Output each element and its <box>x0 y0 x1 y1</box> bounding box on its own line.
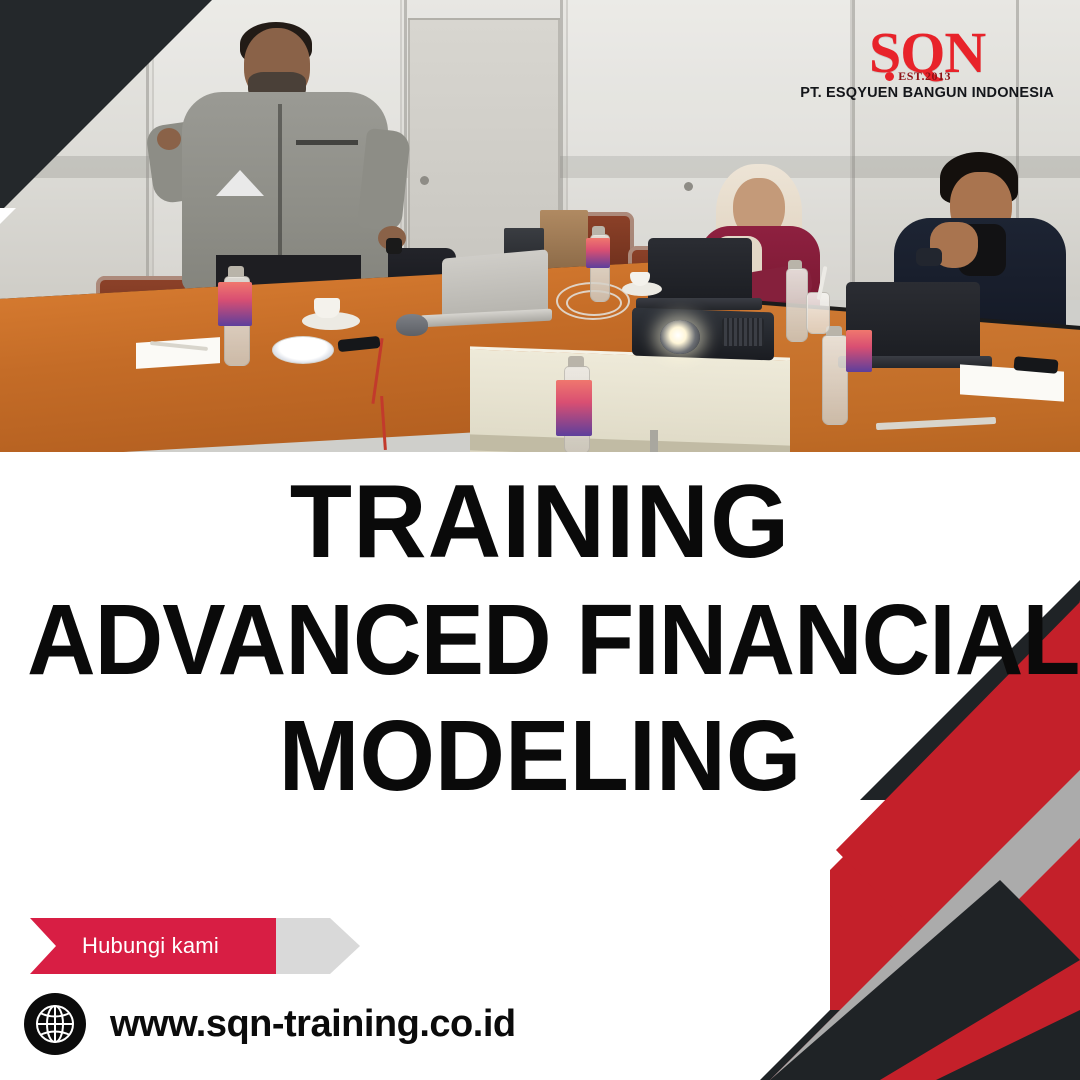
water-bottle <box>822 335 848 425</box>
snack-bowl <box>272 336 334 364</box>
presenter-shirt-pocket <box>296 140 358 145</box>
bottle-tag <box>218 282 252 326</box>
participant-watch <box>916 248 942 266</box>
title-line-2: ADVANCED FINANCIAL <box>27 590 1053 690</box>
bottle-tag <box>846 330 872 372</box>
logo-company-name: PT. ESQYUEN BANGUN INDONESIA <box>800 86 1054 101</box>
coffee-cup <box>314 298 340 318</box>
logo-established: EST.2013 <box>898 70 951 82</box>
training-photo: SQN EST.2013 PT. ESQYUEN BANGUN INDONESI… <box>0 0 1080 452</box>
table-leg <box>650 430 658 452</box>
gray-diagonal-stripe <box>770 770 1080 1080</box>
water-bottle <box>786 268 808 342</box>
black-chevron-tail <box>820 840 1080 1080</box>
globe-icon <box>24 993 86 1055</box>
website-row[interactable]: www.sqn-training.co.id <box>24 993 516 1055</box>
projector-vent <box>722 318 764 346</box>
corner-notch <box>0 208 16 224</box>
poster-canvas: SQN EST.2013 PT. ESQYUEN BANGUN INDONESI… <box>0 0 1080 1080</box>
dark-corner-triangle <box>0 0 212 212</box>
contact-banner-label: Hubungi kami <box>82 933 219 959</box>
sqn-logo: SQN EST.2013 PT. ESQYUEN BANGUN INDONESI… <box>800 24 1054 101</box>
poster-title: TRAINING ADVANCED FINANCIAL MODELING <box>0 470 1080 806</box>
black-diagonal-band <box>770 880 1080 1080</box>
banner-gray-tail <box>276 918 360 974</box>
projector-lens <box>660 320 700 354</box>
laptop-woman <box>648 238 752 300</box>
wall-fixture <box>684 182 693 191</box>
bottle-tag <box>556 380 592 436</box>
presentation-clicker <box>386 238 402 254</box>
contact-banner[interactable]: Hubungi kami <box>30 918 360 974</box>
website-url[interactable]: www.sqn-training.co.id <box>110 1003 516 1046</box>
computer-mouse <box>396 314 428 336</box>
bottle-tag <box>586 238 610 268</box>
door-knob <box>420 176 429 185</box>
logo-established-row: EST.2013 <box>800 70 1054 82</box>
light-accent-triangle <box>216 170 264 196</box>
title-line-3: MODELING <box>16 706 1064 806</box>
title-line-1: TRAINING <box>11 470 1069 574</box>
red-dot-icon <box>885 72 894 81</box>
